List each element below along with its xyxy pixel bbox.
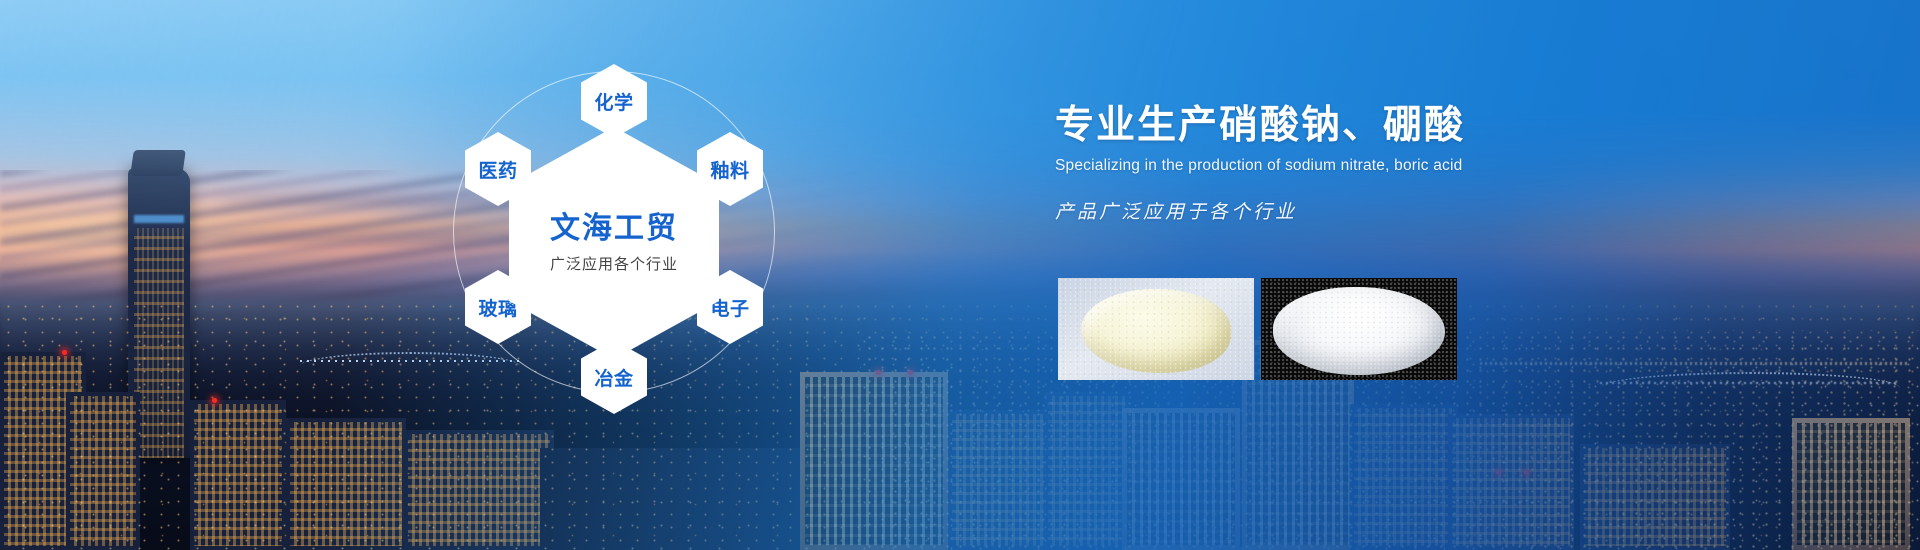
- powder-grain-texture: [1261, 278, 1457, 380]
- product-photo-group: [1058, 278, 1457, 380]
- promo-banner: 化学 釉料 电子 冶金 玻璃 医药 文海工贸 广泛应用各个行业 专业生产硝酸钠、…: [0, 0, 1920, 550]
- hex-chemistry-label: 化学: [594, 88, 633, 115]
- product-photo-sodium-nitrate[interactable]: [1058, 278, 1254, 380]
- industry-hex-diagram: 化学 釉料 电子 冶金 玻璃 医药 文海工贸 广泛应用各个行业: [424, 22, 804, 442]
- powder-grain-texture: [1058, 278, 1254, 380]
- product-photo-boric-acid[interactable]: [1261, 278, 1457, 380]
- hex-pharmaceutical-label: 医药: [478, 156, 517, 183]
- brand-tagline: 广泛应用各个行业: [550, 253, 678, 274]
- hex-glaze-label: 釉料: [710, 156, 749, 183]
- headline-block: 专业生产硝酸钠、硼酸 Specializing in the productio…: [1055, 104, 1875, 224]
- brand-name: 文海工贸: [550, 212, 678, 245]
- hex-metallurgy-label: 冶金: [594, 364, 633, 391]
- headline-primary: 专业生产硝酸钠、硼酸: [1055, 104, 1875, 148]
- headline-tertiary: 产品广泛应用于各个行业: [1055, 197, 1875, 224]
- headline-english: Specializing in the production of sodium…: [1055, 157, 1875, 175]
